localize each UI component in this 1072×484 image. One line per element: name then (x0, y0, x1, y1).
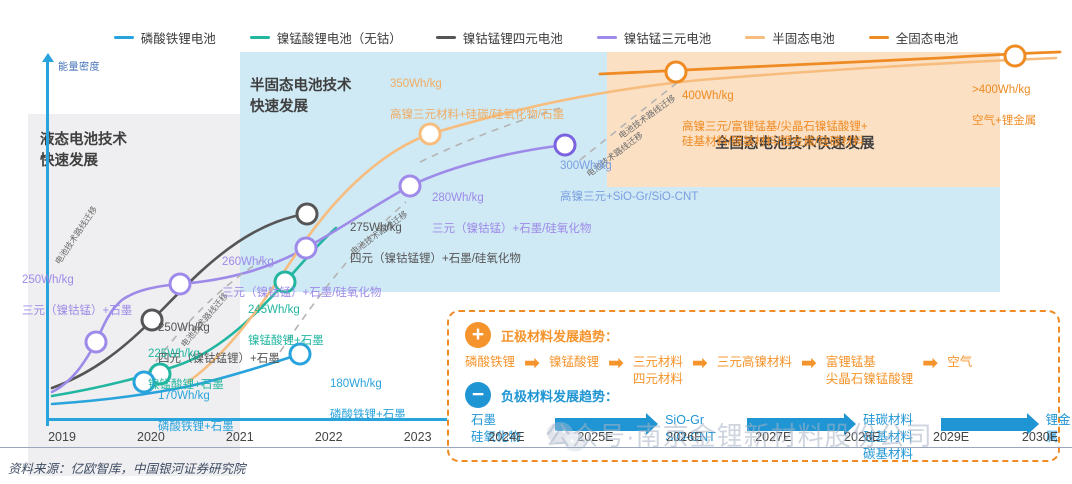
chart-root: 磷酸铁锂电池镍锰酸锂电池（无钴）镍钴锰锂四元电池镍钴锰三元电池半固态电池全固态电… (0, 0, 1072, 484)
point-label-0: 250Wh/kg 三元（镍钴锰）+石墨 (22, 258, 132, 319)
arrow-right-icon: ➡ (922, 354, 938, 373)
cathode-title: 正极材料发展趋势： (501, 326, 618, 345)
legend-swatch (114, 36, 134, 39)
x-tick-2019: 2019 (48, 430, 76, 444)
legend-label: 镍钴锰锂四元电池 (463, 28, 563, 47)
legend-label: 镍钴锰三元电池 (624, 28, 712, 47)
plot-area: 液态电池技术 快速发展 半固态电池技术 快速发展 全固态电池技术快速发展 能量密… (0, 52, 1072, 424)
cathode-title-row: + 正极材料发展趋势： (465, 322, 618, 348)
point-value: 225Wh/kg (148, 348, 200, 360)
legend-item-3[interactable]: 镍钴锰三元电池 (597, 28, 712, 47)
x-tick-2026E: 2026E (666, 430, 702, 444)
point-detail: 三元（镍钴锰）+石墨/硅氧化物 (432, 223, 591, 235)
x-tick-2028E: 2028E (844, 430, 880, 444)
point-value: 300Wh/kg (560, 160, 612, 172)
point-value: 245Wh/kg (248, 304, 300, 316)
point-label-11: 400Wh/kg 高镍三元/富锂锰基/尖晶石镍锰酸锂+ 硅基材料/碳基材料/锂金… (682, 74, 868, 150)
legend-item-0[interactable]: 磷酸铁锂电池 (114, 28, 216, 47)
cathode-step-4: 富锂锰基 尖晶石镍锰酸锂 (826, 354, 914, 388)
legend-item-4[interactable]: 半固态电池 (745, 28, 835, 47)
arrow-right-icon: ➡ (524, 354, 540, 373)
anode-title-row: − 负极材料发展趋势： (465, 382, 618, 408)
legend-item-2[interactable]: 镍钴锰锂四元电池 (436, 28, 563, 47)
point-label-5: 245Wh/kg 镍锰酸锂+石墨 (248, 288, 324, 349)
legend-swatch (436, 36, 456, 39)
legend-item-1[interactable]: 镍锰酸锂电池（无钴） (250, 28, 402, 47)
x-tick-2029E: 2029E (933, 430, 969, 444)
point-value: >400Wh/kg (972, 84, 1031, 96)
point-value: 275Wh/kg (350, 222, 402, 234)
source-note: 资料来源：亿欧智库，中国银河证券研究院 (8, 458, 246, 477)
point-value: 280Wh/kg (432, 192, 484, 204)
legend-swatch (597, 36, 617, 39)
legend-swatch (869, 36, 889, 39)
cathode-step-2: 三元材料 四元材料 (633, 354, 683, 388)
x-tick-2030E: 2030E (1022, 430, 1058, 444)
point-detail: 空气+锂金属 (972, 115, 1036, 127)
arrow-right-icon: ➡ (692, 354, 708, 373)
cathode-step-0: 磷酸铁锂 (465, 354, 515, 371)
legend-swatch (745, 36, 765, 39)
footer-divider (0, 447, 1072, 448)
point-label-12: >400Wh/kg 空气+锂金属 (972, 68, 1036, 129)
arrow-right-icon: ➡ (801, 354, 817, 373)
x-tick-2023: 2023 (404, 430, 432, 444)
cathode-step-5: 空气 (947, 354, 972, 371)
point-value: 400Wh/kg (682, 90, 734, 102)
point-detail: 镍锰酸锂+石墨 (248, 335, 324, 347)
plus-icon: + (465, 322, 491, 348)
legend-label: 半固态电池 (772, 28, 835, 47)
arrow-right-icon: ➡ (608, 354, 624, 373)
point-value: 260Wh/kg (222, 256, 274, 268)
cathode-step-3: 三元高镍材料 (717, 354, 792, 371)
point-value: 250Wh/kg (22, 274, 74, 286)
point-label-6: 180Wh/kg 磷酸铁锂+石墨 (330, 362, 406, 423)
legend-label: 磷酸铁锂电池 (141, 28, 216, 47)
point-detail: 高镍三元+SiO-Gr/SiO-CNT (560, 191, 698, 203)
point-value: 350Wh/kg (390, 78, 442, 90)
anode-title: 负极材料发展趋势： (501, 386, 618, 405)
point-label-9: 350Wh/kg 高镍三元材料+硅碳/硅氧化物/石墨 (390, 62, 564, 123)
point-detail: 高镍三元/富锂锰基/尖晶石镍锰酸锂+ 硅基材料/碳基材料/锂金属/硅碳材料 (682, 121, 868, 148)
legend-label: 全固态电池 (896, 28, 959, 47)
x-tick-2020: 2020 (137, 430, 165, 444)
minus-icon: − (465, 382, 491, 408)
point-label-3: 170Wh/kg 磷酸铁锂+石墨 (158, 374, 234, 435)
x-tick-2021: 2021 (226, 430, 254, 444)
point-detail: 高镍三元材料+硅碳/硅氧化物/石墨 (390, 109, 564, 121)
point-detail: 磷酸铁锂+石墨 (330, 409, 406, 421)
point-label-10: 300Wh/kg 高镍三元+SiO-Gr/SiO-CNT (560, 144, 698, 205)
legend-swatch (250, 36, 270, 39)
x-tick-2024E: 2024E (488, 430, 524, 444)
point-value: 170Wh/kg (158, 390, 210, 402)
point-value: 180Wh/kg (330, 378, 382, 390)
x-tick-2022: 2022 (315, 430, 343, 444)
point-detail: 四元（镍钴锰锂）+石墨/硅氧化物 (350, 253, 521, 265)
legend-label: 镍锰酸锂电池（无钴） (277, 28, 402, 47)
cathode-step-1: 镍锰酸锂 (549, 354, 599, 371)
legend-item-5[interactable]: 全固态电池 (869, 28, 959, 47)
x-tick-2025E: 2025E (577, 430, 613, 444)
chart-legend: 磷酸铁锂电池镍锰酸锂电池（无钴）镍钴锰锂四元电池镍钴锰三元电池半固态电池全固态电… (0, 24, 1072, 50)
x-tick-2027E: 2027E (755, 430, 791, 444)
point-detail: 三元（镍钴锰）+石墨 (22, 305, 132, 317)
